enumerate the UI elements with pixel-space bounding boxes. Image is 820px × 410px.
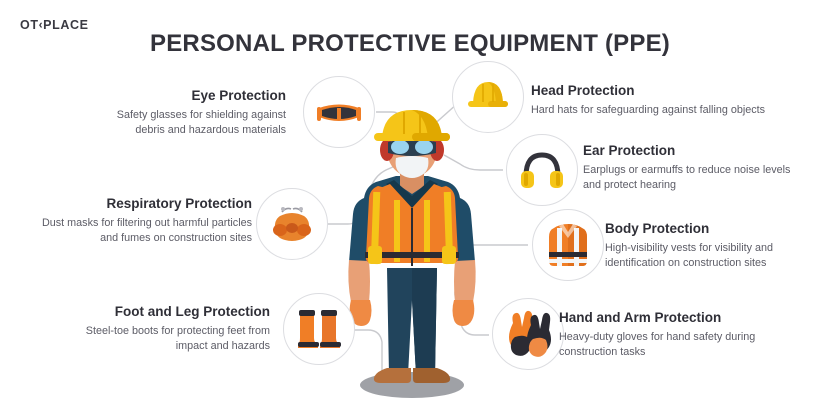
text-block-eye-protection: Eye Protection Safety glasses for shield…: [90, 88, 286, 139]
icon-bubble-eye-protection[interactable]: [303, 76, 375, 148]
text-block-body-protection: Body Protection High-visibility vests fo…: [605, 221, 815, 272]
hi-vis-vest-icon: [541, 218, 595, 272]
head-protection-title: Head Protection: [531, 83, 813, 100]
head-protection-description: Hard hats for safeguarding against falli…: [531, 103, 813, 118]
hand-and-arm-protection-title: Hand and Arm Protection: [559, 310, 815, 327]
icon-bubble-respiratory-protection[interactable]: [256, 188, 328, 260]
text-block-hand-and-arm-protection: Hand and Arm Protection Heavy-duty glove…: [559, 310, 815, 361]
safety-boots-icon: [292, 302, 346, 356]
earmuffs-icon: [516, 144, 568, 196]
infographic-canvas: OT‹PLACE PERSONAL PROTECTIVE EQUIPMENT (…: [0, 0, 820, 410]
icon-bubble-foot-and-leg-protection[interactable]: [283, 293, 355, 365]
ear-protection-title: Ear Protection: [583, 143, 811, 160]
foot-and-leg-protection-description: Steel-toe boots for protecting feet from…: [68, 324, 270, 355]
work-gloves-icon: [501, 307, 555, 361]
respiratory-protection-description: Dust masks for filtering out harmful par…: [30, 216, 252, 247]
hard-hat-icon: [462, 71, 514, 123]
icon-bubble-body-protection[interactable]: [532, 209, 604, 281]
icon-bubble-hand-and-arm-protection[interactable]: [492, 298, 564, 370]
eye-protection-title: Eye Protection: [90, 88, 286, 105]
safety-glasses-icon: [313, 86, 365, 138]
text-block-head-protection: Head Protection Hard hats for safeguardi…: [531, 83, 813, 118]
text-block-foot-and-leg-protection: Foot and Leg Protection Steel-toe boots …: [68, 304, 270, 355]
body-protection-title: Body Protection: [605, 221, 815, 238]
body-protection-description: High-visibility vests for visibility and…: [605, 241, 815, 272]
respirator-mask-icon: [266, 198, 318, 250]
text-block-ear-protection: Ear Protection Earplugs or earmuffs to r…: [583, 143, 811, 194]
text-block-respiratory-protection: Respiratory Protection Dust masks for fi…: [30, 196, 252, 247]
ear-protection-description: Earplugs or earmuffs to reduce noise lev…: [583, 163, 811, 194]
hand-and-arm-protection-description: Heavy-duty gloves for hand safety during…: [559, 330, 815, 361]
icon-bubble-head-protection[interactable]: [452, 61, 524, 133]
icon-bubble-ear-protection[interactable]: [506, 134, 578, 206]
foot-and-leg-protection-title: Foot and Leg Protection: [68, 304, 270, 321]
respiratory-protection-title: Respiratory Protection: [30, 196, 252, 213]
construction-worker-illustration: [332, 100, 492, 400]
eye-protection-description: Safety glasses for shielding against deb…: [90, 108, 286, 139]
